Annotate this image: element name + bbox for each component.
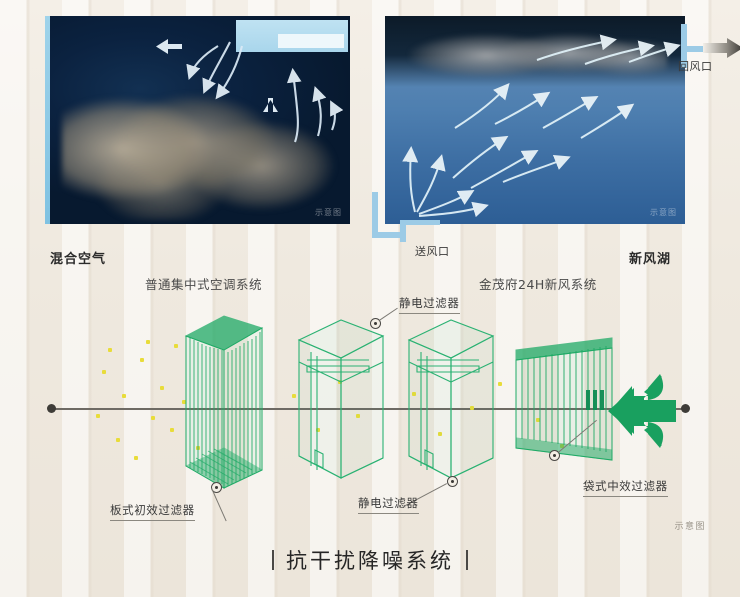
photo-left-image: 示意图 bbox=[50, 16, 350, 224]
caption-fresh-air-lake: 新风湖 bbox=[629, 248, 671, 267]
return-duct-horizontal bbox=[681, 46, 703, 52]
airflow-arrows-left bbox=[50, 16, 350, 224]
photo-right-watermark: 示意图 bbox=[650, 207, 677, 218]
dust-particle bbox=[160, 386, 164, 390]
return-air-arrow-icon bbox=[703, 38, 740, 58]
diagram-watermark: 示意图 bbox=[674, 519, 706, 532]
dust-particle bbox=[151, 416, 155, 420]
photo-row: 示意图 bbox=[0, 0, 740, 240]
callout-label-electrostatic-top: 静电过滤器 bbox=[399, 295, 460, 314]
fresh-air-photo: 示意图 bbox=[385, 16, 685, 224]
photo-right-image: 示意图 bbox=[385, 16, 685, 224]
caption-mixed-air: 混合空气 bbox=[50, 248, 106, 267]
label-return-air-outlet: 回风口 bbox=[678, 58, 713, 74]
supply-duct-cap bbox=[400, 220, 440, 225]
green-flow-arrow-icon bbox=[604, 366, 690, 456]
mixed-air-photo: 示意图 bbox=[50, 16, 350, 224]
subcaption-24h-fresh-air: 金茂府24H新风系统 bbox=[479, 274, 597, 293]
dust-particle bbox=[140, 358, 144, 362]
callout-label-primary-filter: 板式初效过滤器 bbox=[110, 502, 195, 521]
callout-marker-electrostatic-bottom[interactable] bbox=[447, 476, 458, 487]
dust-particle bbox=[102, 370, 106, 374]
unit-electrostatic-2[interactable] bbox=[405, 316, 497, 486]
dust-particle bbox=[146, 340, 150, 344]
label-supply-air-outlet: 送风口 bbox=[415, 243, 450, 259]
dust-particle bbox=[122, 394, 126, 398]
unit-primary-filter[interactable] bbox=[180, 310, 270, 500]
flowline-left-endpoint bbox=[47, 404, 56, 413]
dust-particle bbox=[134, 456, 138, 460]
unit-electrostatic-1[interactable] bbox=[295, 316, 387, 486]
dust-particle bbox=[170, 428, 174, 432]
dust-particle bbox=[174, 344, 178, 348]
dust-particle bbox=[108, 348, 112, 352]
dust-particle bbox=[498, 382, 502, 386]
subcaption-central-ac: 普通集中式空调系统 bbox=[145, 274, 262, 293]
dust-particle bbox=[96, 414, 100, 418]
callout-line bbox=[379, 308, 398, 321]
dust-particle bbox=[116, 438, 120, 442]
footer-bar-right bbox=[466, 550, 468, 570]
callout-label-bag-filter: 袋式中效过滤器 bbox=[583, 478, 668, 497]
footer-title-text: 抗干扰降噪系统 bbox=[286, 545, 454, 575]
footer-title-bar: 抗干扰降噪系统 bbox=[0, 545, 740, 575]
footer-bar-left bbox=[272, 550, 274, 570]
airflow-arrows-right bbox=[385, 16, 685, 224]
filter-system-diagram: 板式初效过滤器 静电过滤器 静电过滤器 袋式中效过滤器 示意图 bbox=[0, 296, 740, 546]
photo-left-watermark: 示意图 bbox=[315, 207, 342, 218]
callout-label-electrostatic-bottom: 静电过滤器 bbox=[358, 495, 419, 514]
